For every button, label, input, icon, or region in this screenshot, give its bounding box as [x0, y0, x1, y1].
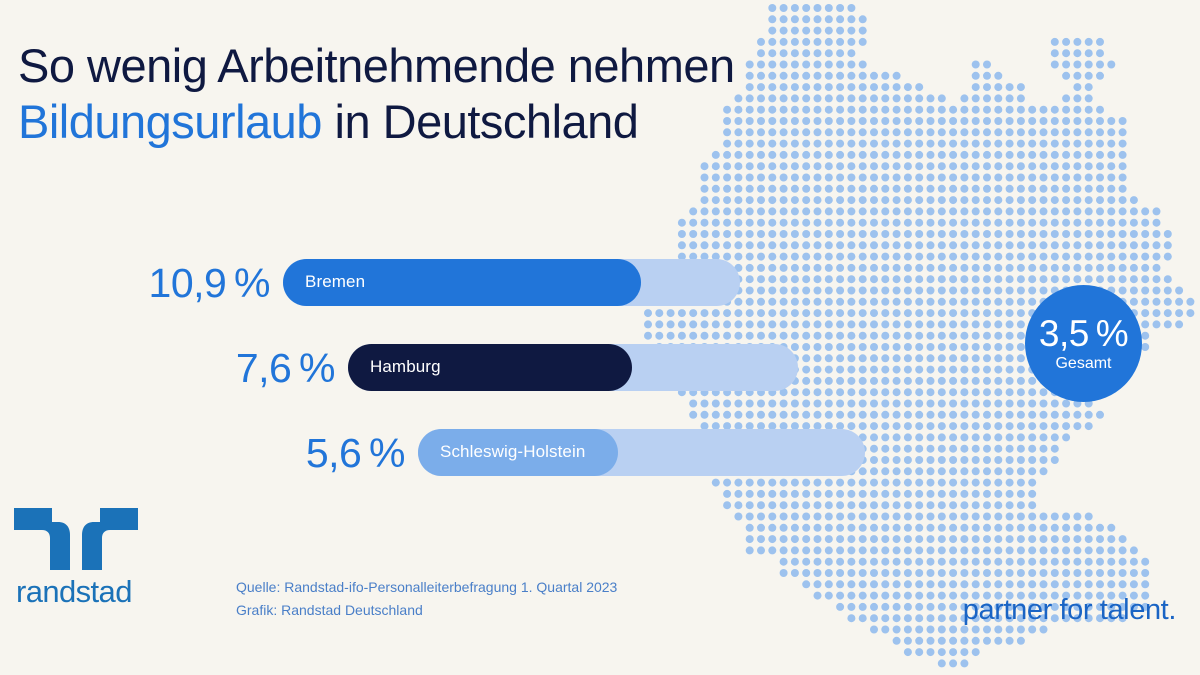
bar-value-bremen: 10,9 % [110, 260, 270, 307]
tagline: partner for talent. [963, 594, 1176, 627]
bar-row-schleswig-holstein: 5,6 % Schleswig-Holstein [0, 428, 1000, 476]
randstad-wordmark: randstad [16, 574, 138, 610]
bar-fill-bremen: Bremen [283, 259, 641, 306]
title-line-2: Bildungsurlaub in Deutschland [18, 98, 735, 146]
bar-label-schleswig-holstein: Schleswig-Holstein [440, 442, 585, 462]
bar-row-bremen: 10,9 % Bremen [0, 258, 1000, 306]
bar-value-schleswig-holstein: 5,6 % [245, 430, 405, 477]
bar-fill-schleswig-holstein: Schleswig-Holstein [418, 429, 618, 476]
title-rest: in Deutschland [322, 95, 638, 148]
title-line-1: So wenig Arbeitnehmende nehmen [18, 42, 735, 90]
randstad-logo: randstad [14, 508, 138, 610]
bar-fill-hamburg: Hamburg [348, 344, 632, 391]
infographic-canvas: So wenig Arbeitnehmende nehmen Bildungsu… [0, 0, 1200, 675]
total-badge: 3,5 % Gesamt [1025, 285, 1142, 402]
bar-label-hamburg: Hamburg [370, 357, 441, 377]
source-credits: Quelle: Randstad-ifo-Personalleiterbefra… [236, 576, 617, 622]
bar-row-hamburg: 7,6 % Hamburg [0, 343, 1000, 391]
randstad-y-mark [14, 508, 138, 570]
total-caption: Gesamt [1055, 356, 1111, 372]
bar-chart: 10,9 % Bremen 7,6 % Hamburg 5,6 % Schles… [0, 258, 1000, 513]
source-line-2: Grafik: Randstad Deutschland [236, 599, 617, 622]
bar-label-bremen: Bremen [305, 272, 365, 292]
page-title: So wenig Arbeitnehmende nehmen Bildungsu… [18, 42, 735, 146]
bar-value-hamburg: 7,6 % [175, 345, 335, 392]
total-value: 3,5 % [1039, 315, 1128, 352]
source-line-1: Quelle: Randstad-ifo-Personalleiterbefra… [236, 576, 617, 599]
title-highlight: Bildungsurlaub [18, 95, 322, 148]
